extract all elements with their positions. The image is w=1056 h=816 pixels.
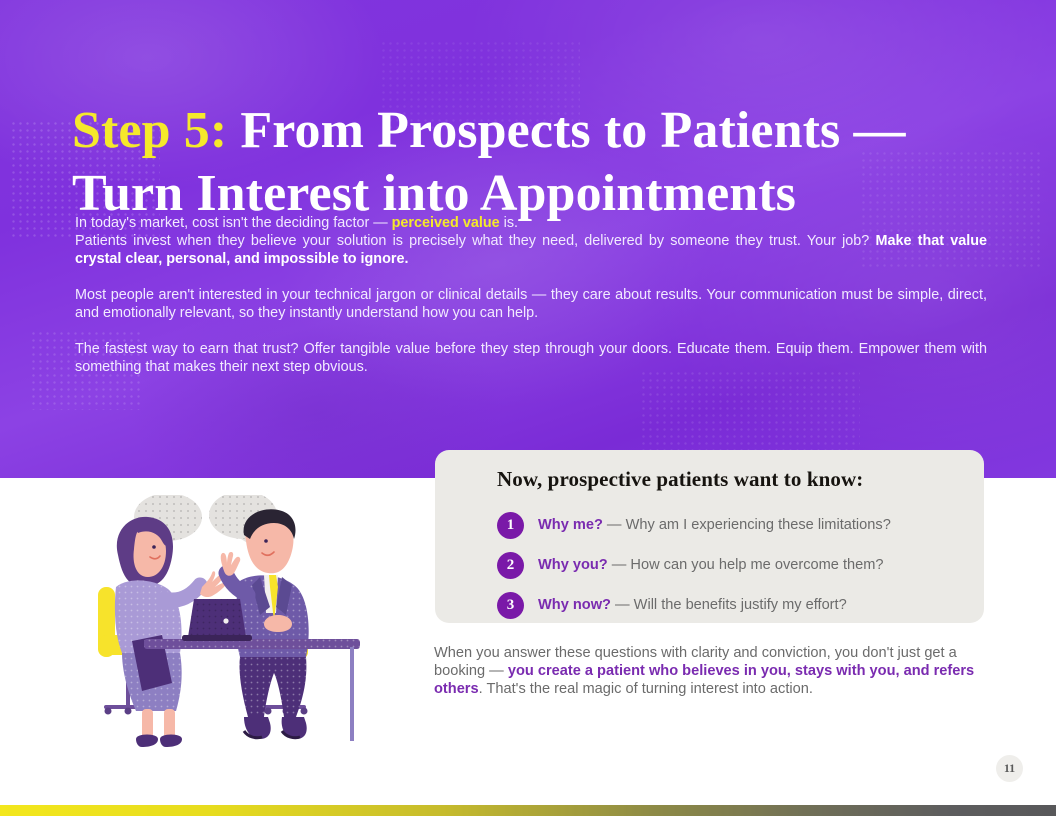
question-number-badge: 2 [497, 552, 524, 579]
question-detail: — Why am I experiencing these limitation… [603, 517, 891, 533]
page-number-badge: 11 [996, 755, 1023, 782]
p1-text-b: is. [500, 215, 518, 231]
question-row: 2 Why you? — How can you help me overcom… [497, 545, 967, 585]
conversation-illustration [88, 495, 368, 760]
question-text: Why you? — How can you help me overcome … [538, 557, 884, 573]
closing-paragraph: When you answer these questions with cla… [434, 644, 985, 698]
question-detail: — Will the benefits justify my effort? [611, 597, 847, 613]
question-number-badge: 1 [497, 512, 524, 539]
question-label: Why now? [538, 597, 611, 613]
p1-text-c: Patients invest when they believe your s… [75, 233, 875, 249]
question-label: Why me? [538, 517, 603, 533]
question-row: 3 Why now? — Will the benefits justify m… [497, 585, 967, 625]
questions-card: Now, prospective patients want to know: … [435, 450, 984, 623]
paragraph-three: The fastest way to earn that trust? Offe… [75, 340, 987, 376]
question-detail: — How can you help me overcome them? [608, 557, 884, 573]
p1-highlight: perceived value [392, 215, 500, 231]
question-row: 1 Why me? — Why am I experiencing these … [497, 505, 967, 545]
slide-title: Step 5: From Prospects to Patients — Tur… [72, 99, 1002, 225]
closing-text-b: . That's the real magic of turning inter… [479, 681, 813, 697]
question-label: Why you? [538, 557, 608, 573]
question-text: Why now? — Will the benefits justify my … [538, 597, 847, 613]
questions-list: 1 Why me? — Why am I experiencing these … [497, 505, 967, 625]
title-step-label: Step 5: [72, 102, 227, 159]
questions-card-heading: Now, prospective patients want to know: [497, 467, 863, 492]
intro-paragraph: In today's market, cost isn't the decidi… [75, 214, 987, 268]
paragraph-two: Most people aren't interested in your te… [75, 286, 987, 322]
slide: Step 5: From Prospects to Patients — Tur… [0, 0, 1056, 816]
question-text: Why me? — Why am I experiencing these li… [538, 517, 891, 533]
p1-text-a: In today's market, cost isn't the decidi… [75, 215, 392, 231]
bottom-gradient-bar [0, 805, 1056, 816]
question-number-badge: 3 [497, 592, 524, 619]
